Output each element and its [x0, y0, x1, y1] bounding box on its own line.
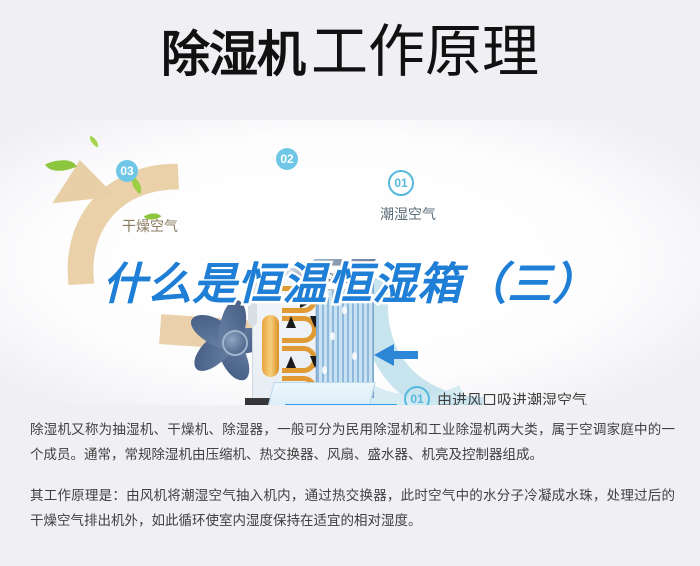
water-tank-icon: [285, 404, 397, 405]
diagram-legend: 01 由进风口吸进潮湿空气 02 潮湿空气经过蒸发器冷凝成水珠 03 从上部出风…: [404, 386, 694, 405]
heat-exchanger-badge: 02: [276, 148, 298, 170]
legend-badge: 01: [404, 386, 430, 405]
banner-title-part2: 工作原理: [311, 20, 539, 84]
page-root: 除湿机工作原理 03 干燥空气: [0, 0, 700, 566]
receiver-cylinder-icon: [262, 315, 279, 377]
intake-arrow-icon: [374, 344, 394, 366]
tank-shelf-icon: [262, 382, 375, 405]
dry-air-badge: 03: [116, 160, 138, 182]
hero-banner: 除湿机工作原理 03 干燥空气: [0, 0, 700, 405]
moist-air-label: 潮湿空气: [380, 204, 436, 224]
flow-arrow-up-icon: [286, 316, 296, 328]
banner-title-part1: 除湿机: [161, 28, 305, 82]
legend-text: 由进风口吸进潮湿空气: [437, 389, 587, 406]
article-paragraph-2: 其工作原理是：由风机将潮湿空气抽入机内，通过热交换器，此时空气中的水分子冷凝成水…: [30, 484, 675, 534]
intake-arrow-tail-icon: [392, 351, 418, 359]
article-body: 除湿机又称为抽湿机、干燥机、除湿器，一般可分为民用除湿机和工业除湿机两大类，属于…: [30, 418, 675, 550]
overlay-headline: 什么是恒温恒湿箱（三）: [0, 263, 700, 307]
legend-item: 01 由进风口吸进潮湿空气: [404, 386, 694, 405]
flow-arrow-up-icon: [286, 356, 296, 368]
moist-air-badge: 01: [388, 170, 414, 196]
article-paragraph-1: 除湿机又称为抽湿机、干燥机、除湿器，一般可分为民用除湿机和工业除湿机两大类，属于…: [30, 418, 675, 468]
banner-title: 除湿机工作原理: [0, 24, 700, 81]
dry-air-label: 干燥空气: [122, 216, 178, 236]
